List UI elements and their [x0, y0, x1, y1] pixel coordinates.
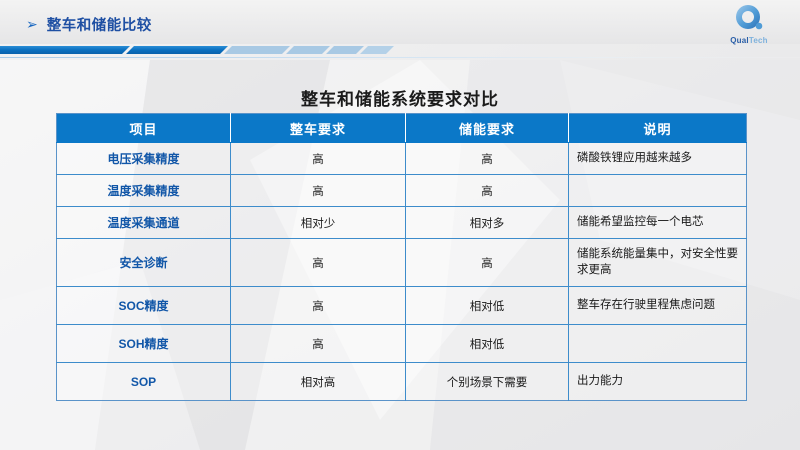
cell-vehicle: 相对高	[231, 363, 406, 401]
cell-storage: 相对低	[406, 287, 569, 325]
table-row: SOP 相对高 个别场景下需要 出力能力	[57, 363, 747, 401]
table-row: 温度采集精度 高 高	[57, 175, 747, 207]
logo-wordmark: QualTech	[730, 36, 767, 45]
header-accent-bar	[0, 44, 800, 56]
cell-storage: 高	[406, 175, 569, 207]
cell-item: 电压采集精度	[57, 143, 231, 175]
comparison-table-container: 项目 整车要求 储能要求 说明 电压采集精度 高 高 磷酸铁锂应用越来越多 温度…	[56, 113, 746, 401]
page-title: 整车和储能比较	[47, 14, 152, 35]
table-header-row: 项目 整车要求 储能要求 说明	[57, 114, 747, 143]
header-title-row: ➢ 整车和储能比较	[26, 14, 152, 35]
column-header-storage: 储能要求	[406, 114, 569, 143]
table-row: 温度采集通道 相对少 相对多 储能希望监控每一个电芯	[57, 207, 747, 239]
cell-vehicle: 高	[231, 325, 406, 363]
table-row: SOH精度 高 相对低	[57, 325, 747, 363]
arrow-bullet-icon: ➢	[26, 18, 38, 32]
column-header-item: 项目	[57, 114, 231, 143]
cell-storage: 相对低	[406, 325, 569, 363]
cell-item: SOH精度	[57, 325, 231, 363]
cell-storage: 个别场景下需要	[406, 363, 569, 401]
cell-vehicle: 相对少	[231, 207, 406, 239]
table-body: 电压采集精度 高 高 磷酸铁锂应用越来越多 温度采集精度 高 高 温度采集通道 …	[57, 143, 747, 401]
cell-item: SOP	[57, 363, 231, 401]
cell-item: 温度采集精度	[57, 175, 231, 207]
cell-vehicle: 高	[231, 175, 406, 207]
cell-note: 储能希望监控每一个电芯	[569, 207, 747, 239]
cell-vehicle: 高	[231, 143, 406, 175]
content-title: 整车和储能系统要求对比	[0, 85, 800, 110]
cell-note	[569, 325, 747, 363]
header-divider-line	[0, 57, 800, 58]
cell-item: SOC精度	[57, 287, 231, 325]
cell-note: 整车存在行驶里程焦虑问题	[569, 287, 747, 325]
cell-item: 温度采集通道	[57, 207, 231, 239]
cell-storage: 高	[406, 239, 569, 287]
cell-storage: 高	[406, 143, 569, 175]
table-row: 安全诊断 高 高 储能系统能量集中，对安全性要求更高	[57, 239, 747, 287]
logo-text-tech: Tech	[749, 36, 768, 45]
cell-item: 安全诊断	[57, 239, 231, 287]
comparison-table: 项目 整车要求 储能要求 说明 电压采集精度 高 高 磷酸铁锂应用越来越多 温度…	[56, 113, 747, 401]
cell-vehicle: 高	[231, 287, 406, 325]
brand-logo: QualTech	[716, 3, 782, 51]
cell-note: 磷酸铁锂应用越来越多	[569, 143, 747, 175]
cell-storage: 相对多	[406, 207, 569, 239]
logo-text-qual: Qual	[730, 36, 749, 45]
cell-note: 出力能力	[569, 363, 747, 401]
cell-vehicle: 高	[231, 239, 406, 287]
cell-note	[569, 175, 747, 207]
column-header-note: 说明	[569, 114, 747, 143]
qualtech-ring-icon	[732, 3, 766, 35]
table-row: SOC精度 高 相对低 整车存在行驶里程焦虑问题	[57, 287, 747, 325]
column-header-vehicle: 整车要求	[231, 114, 406, 143]
slide-header: ➢ 整车和储能比较	[0, 0, 800, 62]
table-row: 电压采集精度 高 高 磷酸铁锂应用越来越多	[57, 143, 747, 175]
cell-note: 储能系统能量集中，对安全性要求更高	[569, 239, 747, 287]
